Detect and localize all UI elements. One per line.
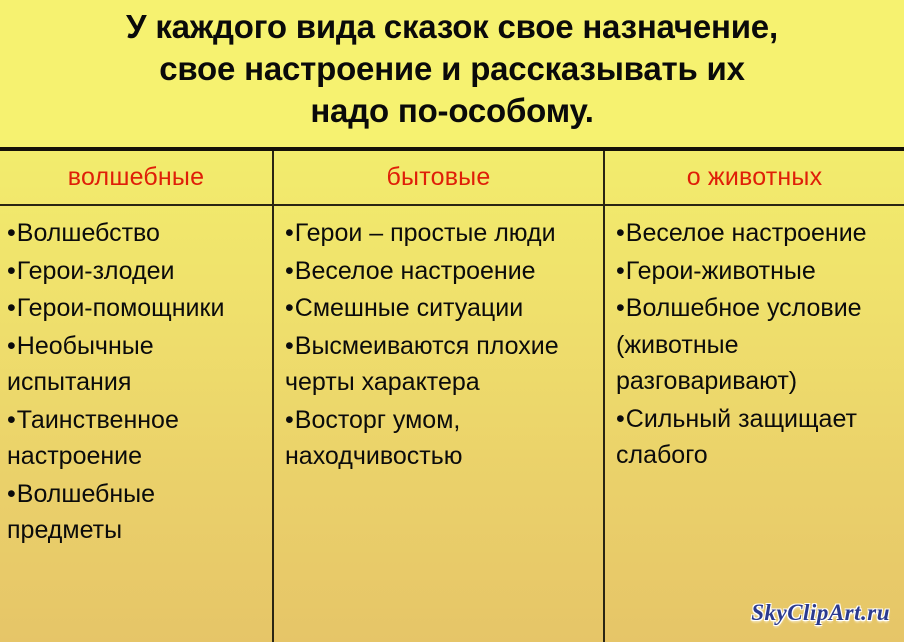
feature-list-animals: Веселое настроение Герои-животные Волшеб…: [616, 215, 896, 474]
table-body-cell-magic: Волшебство Герои-злодеи Герои-помощники …: [0, 206, 272, 642]
fairy-tale-types-table: волшебные бытовые о животных Волшебство …: [0, 151, 904, 642]
table-header-cell-animals: о животных: [605, 151, 904, 204]
skycliparat-watermark: SkyClipArt.ru: [751, 600, 890, 626]
table-header-row: волшебные бытовые о животных: [0, 151, 904, 206]
list-item: Необычные испытания: [7, 328, 264, 401]
table-body-cell-everyday: Герои – простые люди Веселое настроение …: [272, 206, 605, 642]
list-item: Герои-животные: [616, 253, 896, 290]
list-item: Таинственное настроение: [7, 402, 264, 475]
table-header-cell-everyday: бытовые: [272, 151, 605, 204]
feature-list-magic: Волшебство Герои-злодеи Герои-помощники …: [7, 215, 264, 549]
list-item: Волшебное условие (животные разговариваю…: [616, 290, 896, 400]
table-header-cell-magic: волшебные: [0, 151, 272, 204]
table-body-cell-animals: Веселое настроение Герои-животные Волшеб…: [605, 206, 904, 642]
list-item: Веселое настроение: [285, 253, 595, 290]
title-block: У каждого вида сказок свое назначение, с…: [0, 0, 904, 148]
table-body-row: Волшебство Герои-злодеи Герои-помощники …: [0, 206, 904, 642]
list-item: Сильный защищает слабого: [616, 401, 896, 474]
title-line-3: надо по-особому.: [310, 90, 593, 132]
title-line-1: У каждого вида сказок свое назначение,: [126, 6, 778, 48]
list-item: Герои-злодеи: [7, 253, 264, 290]
list-item: Волшебство: [7, 215, 264, 252]
list-item: Смешные ситуации: [285, 290, 595, 327]
column-header-label-magic: волшебные: [68, 163, 204, 192]
feature-list-everyday: Герои – простые люди Веселое настроение …: [285, 215, 595, 475]
list-item: Восторг умом, находчивостью: [285, 402, 595, 475]
column-header-label-everyday: бытовые: [387, 163, 491, 192]
list-item: Волшебные предметы: [7, 476, 264, 549]
column-header-label-animals: о животных: [687, 163, 823, 192]
slide-canvas: У каждого вида сказок свое назначение, с…: [0, 0, 904, 642]
list-item: Герои – простые люди: [285, 215, 595, 252]
list-item: Веселое настроение: [616, 215, 896, 252]
title-line-2: свое настроение и рассказывать их: [159, 48, 744, 90]
list-item: Герои-помощники: [7, 290, 264, 327]
list-item: Высмеиваются плохие черты характера: [285, 328, 595, 401]
